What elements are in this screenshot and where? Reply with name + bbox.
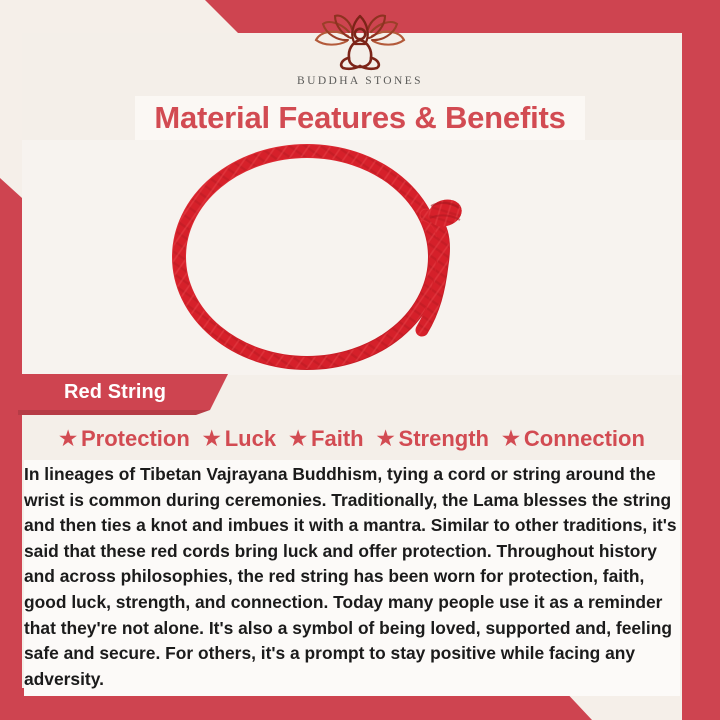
red-string-bracelet-icon [22,140,682,375]
benefit-item: ★ Protection [59,426,190,452]
benefit-item: ★ Strength [377,426,489,452]
benefit-label: Faith [311,426,364,452]
brand-logo: BUDDHA STONES [0,14,720,87]
star-icon: ★ [377,429,395,449]
benefit-label: Luck [225,426,276,452]
star-icon: ★ [502,429,520,449]
description-paragraph: In lineages of Tibetan Vajrayana Buddhis… [24,460,680,696]
benefit-item: ★ Connection [502,426,645,452]
title-banner: Material Features & Benefits [135,96,585,140]
infographic-poster: BUDDHA STONES Material Features & Benefi… [0,0,720,720]
benefit-label: Protection [81,426,190,452]
star-icon: ★ [203,429,221,449]
section-ribbon: Red String [18,374,228,410]
benefit-item: ★ Faith [289,426,364,452]
benefit-label: Connection [524,426,645,452]
frame-accent-left [0,178,22,720]
brand-name: BUDDHA STONES [297,75,423,87]
ribbon-label: Red String [64,381,166,404]
frame-accent-right [682,0,720,720]
product-photo [22,140,682,375]
benefit-item: ★ Luck [203,426,276,452]
star-icon: ★ [59,429,77,449]
star-icon: ★ [289,429,307,449]
benefits-row: ★ Protection ★ Luck ★ Faith ★ Strength ★… [22,420,682,458]
benefit-label: Strength [399,426,489,452]
lotus-meditation-icon [304,14,416,72]
page-title: Material Features & Benefits [154,100,565,136]
ribbon-shadow [18,410,210,415]
